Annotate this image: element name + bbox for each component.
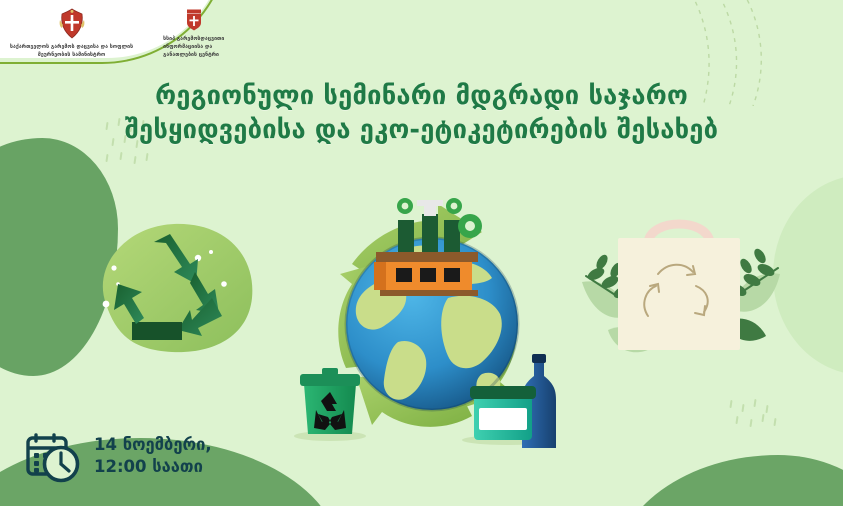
georgia-coat-of-arms-small-icon — [185, 8, 203, 32]
logo-bar: საქართველოს გარემოს დაცვისა და სოფლის მე… — [10, 8, 224, 60]
poster-canvas: საქართველოს გარემოს დაცვისა და სოფლის მე… — [0, 0, 843, 506]
logo-education-center: სსიპ გარემოსდაცვითი ინფორმაციისა და განა… — [163, 8, 224, 60]
calendar-clock-icon — [24, 428, 82, 484]
georgia-coat-of-arms-icon — [59, 8, 85, 40]
tick-marks-bottom-right — [728, 398, 788, 438]
logo-ministry-label: საქართველოს გარემოს დაცვისა და სოფლის მე… — [10, 44, 133, 60]
tote-bag-icon — [618, 238, 740, 350]
logo-education-center-label: სსიპ გარემოსდაცვითი ინფორმაციისა და განა… — [163, 36, 224, 60]
reusable-tote-bag-illustration — [578, 212, 784, 380]
recycling-symbol-illustration — [86, 212, 266, 370]
global-recycling-cycle-illustration — [286, 178, 576, 462]
event-datetime-label: 14 ნოემბერი, 12:00 საათი — [94, 434, 212, 479]
event-datetime-badge: 14 ნოემბერი, 12:00 საათი — [24, 428, 212, 484]
blob-bottom-right-green — [613, 455, 843, 506]
recycle-bin-icon — [294, 368, 366, 441]
poster-title: რეგიონული სემინარი მდგრადი საჯარო შესყიდ… — [0, 80, 843, 147]
logo-ministry: საქართველოს გარემოს დაცვისა და სოფლის მე… — [10, 8, 133, 60]
